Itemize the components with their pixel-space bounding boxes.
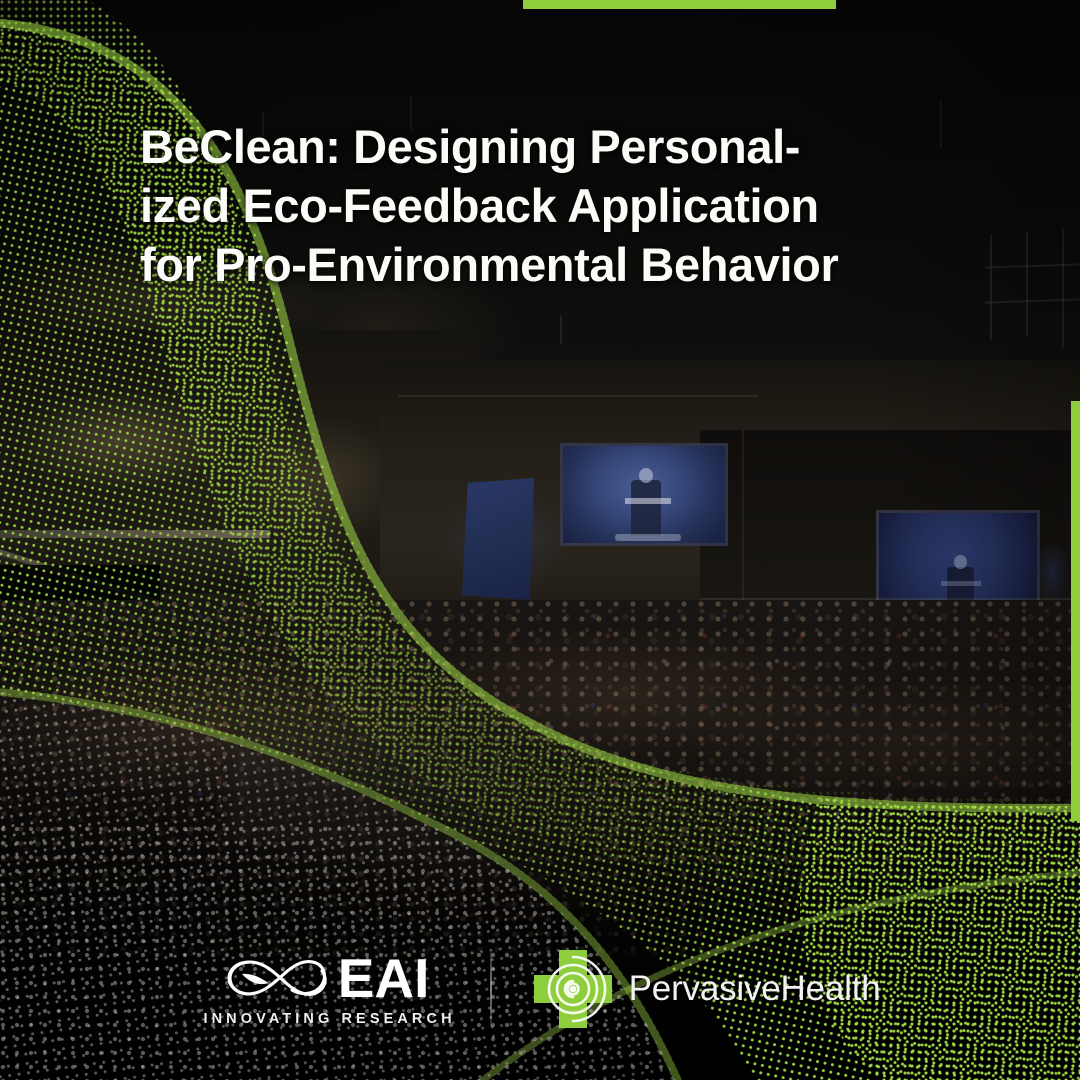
eai-tagline: INNOVATING RESEARCH	[199, 1011, 455, 1027]
green-cross-signal-waves-icon	[530, 946, 616, 1032]
pervasive-health-wordmark: PervasiveHealth	[629, 969, 881, 1009]
eai-wordmark: EAI	[338, 952, 430, 1004]
footer-logos: EAI INNOVATING RESEARCH PervasiveHeal	[0, 946, 1080, 1032]
page-title: BeClean: Designing Personal- ized Eco-Fe…	[140, 117, 950, 294]
bottom-gradient	[0, 780, 1080, 1080]
right-accent-bar	[1071, 401, 1080, 821]
title-line-3: for Pro-Environmental Behavior	[140, 235, 950, 294]
slide-canvas: BeClean: Designing Personal- ized Eco-Fe…	[0, 0, 1080, 1080]
top-accent-bar	[523, 0, 836, 9]
pervasive-health-logo[interactable]: PervasiveHealth	[492, 946, 881, 1032]
title-line-1: BeClean: Designing Personal-	[140, 117, 950, 176]
eai-logo[interactable]: EAI INNOVATING RESEARCH	[199, 952, 489, 1027]
infinity-ribbon-icon	[226, 952, 332, 1004]
eai-logo-row: EAI	[226, 952, 430, 1004]
title-line-2: ized Eco-Feedback Application	[140, 176, 950, 235]
